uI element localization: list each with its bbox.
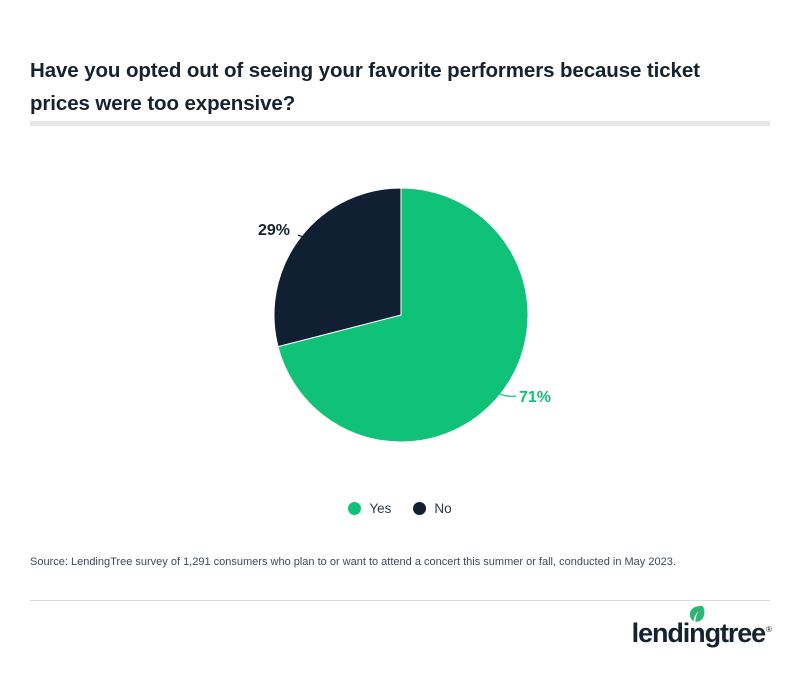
infographic-canvas: Have you opted out of seeing your favori… [0, 0, 800, 673]
legend-item-no[interactable]: No [413, 501, 451, 516]
legend-swatch-no-icon [413, 502, 426, 515]
legend-swatch-yes-icon [348, 502, 361, 515]
pie-chart: 29% 71% [0, 140, 800, 490]
legend-label-yes: Yes [369, 501, 391, 516]
legend-item-yes[interactable]: Yes [348, 501, 391, 516]
title-divider [30, 121, 770, 126]
legend-label-no: No [434, 501, 451, 516]
pie-label-no: 29% [258, 222, 290, 239]
lendingtree-logo[interactable]: lendingtree ® [632, 618, 772, 648]
logo-trademark: ® [766, 625, 772, 634]
pie-label-yes: 71% [519, 389, 551, 406]
footer-divider [30, 600, 770, 601]
chart-legend: Yes No [0, 501, 800, 516]
leaf-icon [688, 605, 705, 624]
page-title: Have you opted out of seeing your favori… [30, 54, 760, 120]
pie-chart-container: 29% 71% [0, 140, 800, 490]
source-note: Source: LendingTree survey of 1,291 cons… [30, 554, 770, 570]
